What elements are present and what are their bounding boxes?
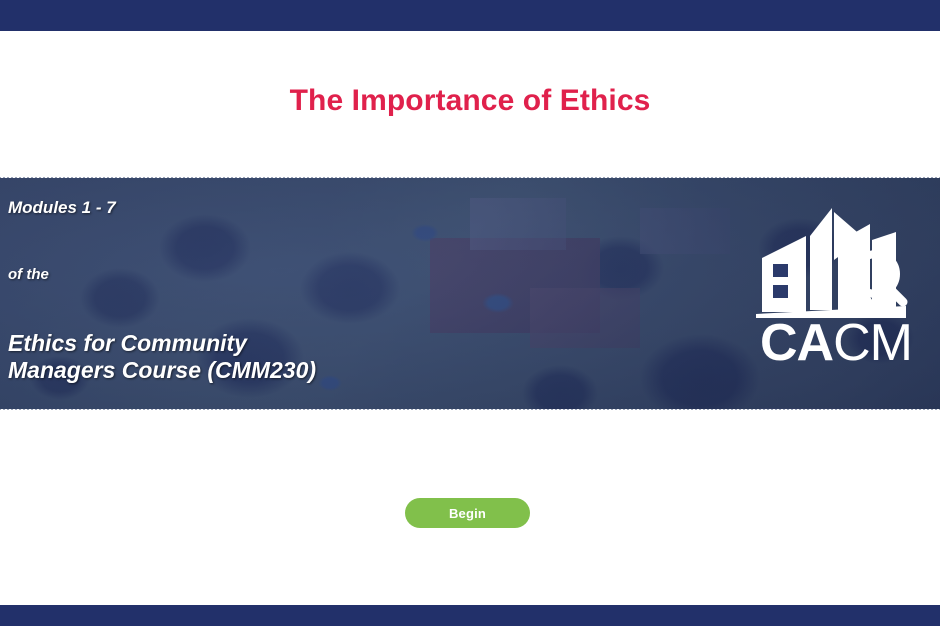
cacm-logo: CACM	[746, 202, 926, 372]
bottom-accent-band	[0, 605, 940, 626]
banner-image-block[interactable]: Modules 1 - 7 of the Ethics for Communit…	[0, 178, 940, 409]
logo-wordmark-bold: CA	[760, 314, 834, 372]
presentation-slide: The Importance of Ethics Modules 1 - 7 o…	[0, 0, 940, 626]
banner-course-label: Ethics for Community Managers Course (CM…	[8, 330, 316, 384]
top-accent-band	[0, 0, 940, 31]
svg-text:CACM: CACM	[760, 314, 912, 372]
begin-button[interactable]: Begin	[405, 498, 530, 528]
logo-wordmark-light: CM	[833, 314, 912, 372]
banner-ofthe-label: of the	[8, 266, 49, 284]
banner-modules-label: Modules 1 - 7	[8, 198, 116, 218]
page-title: The Importance of Ethics	[0, 84, 940, 118]
